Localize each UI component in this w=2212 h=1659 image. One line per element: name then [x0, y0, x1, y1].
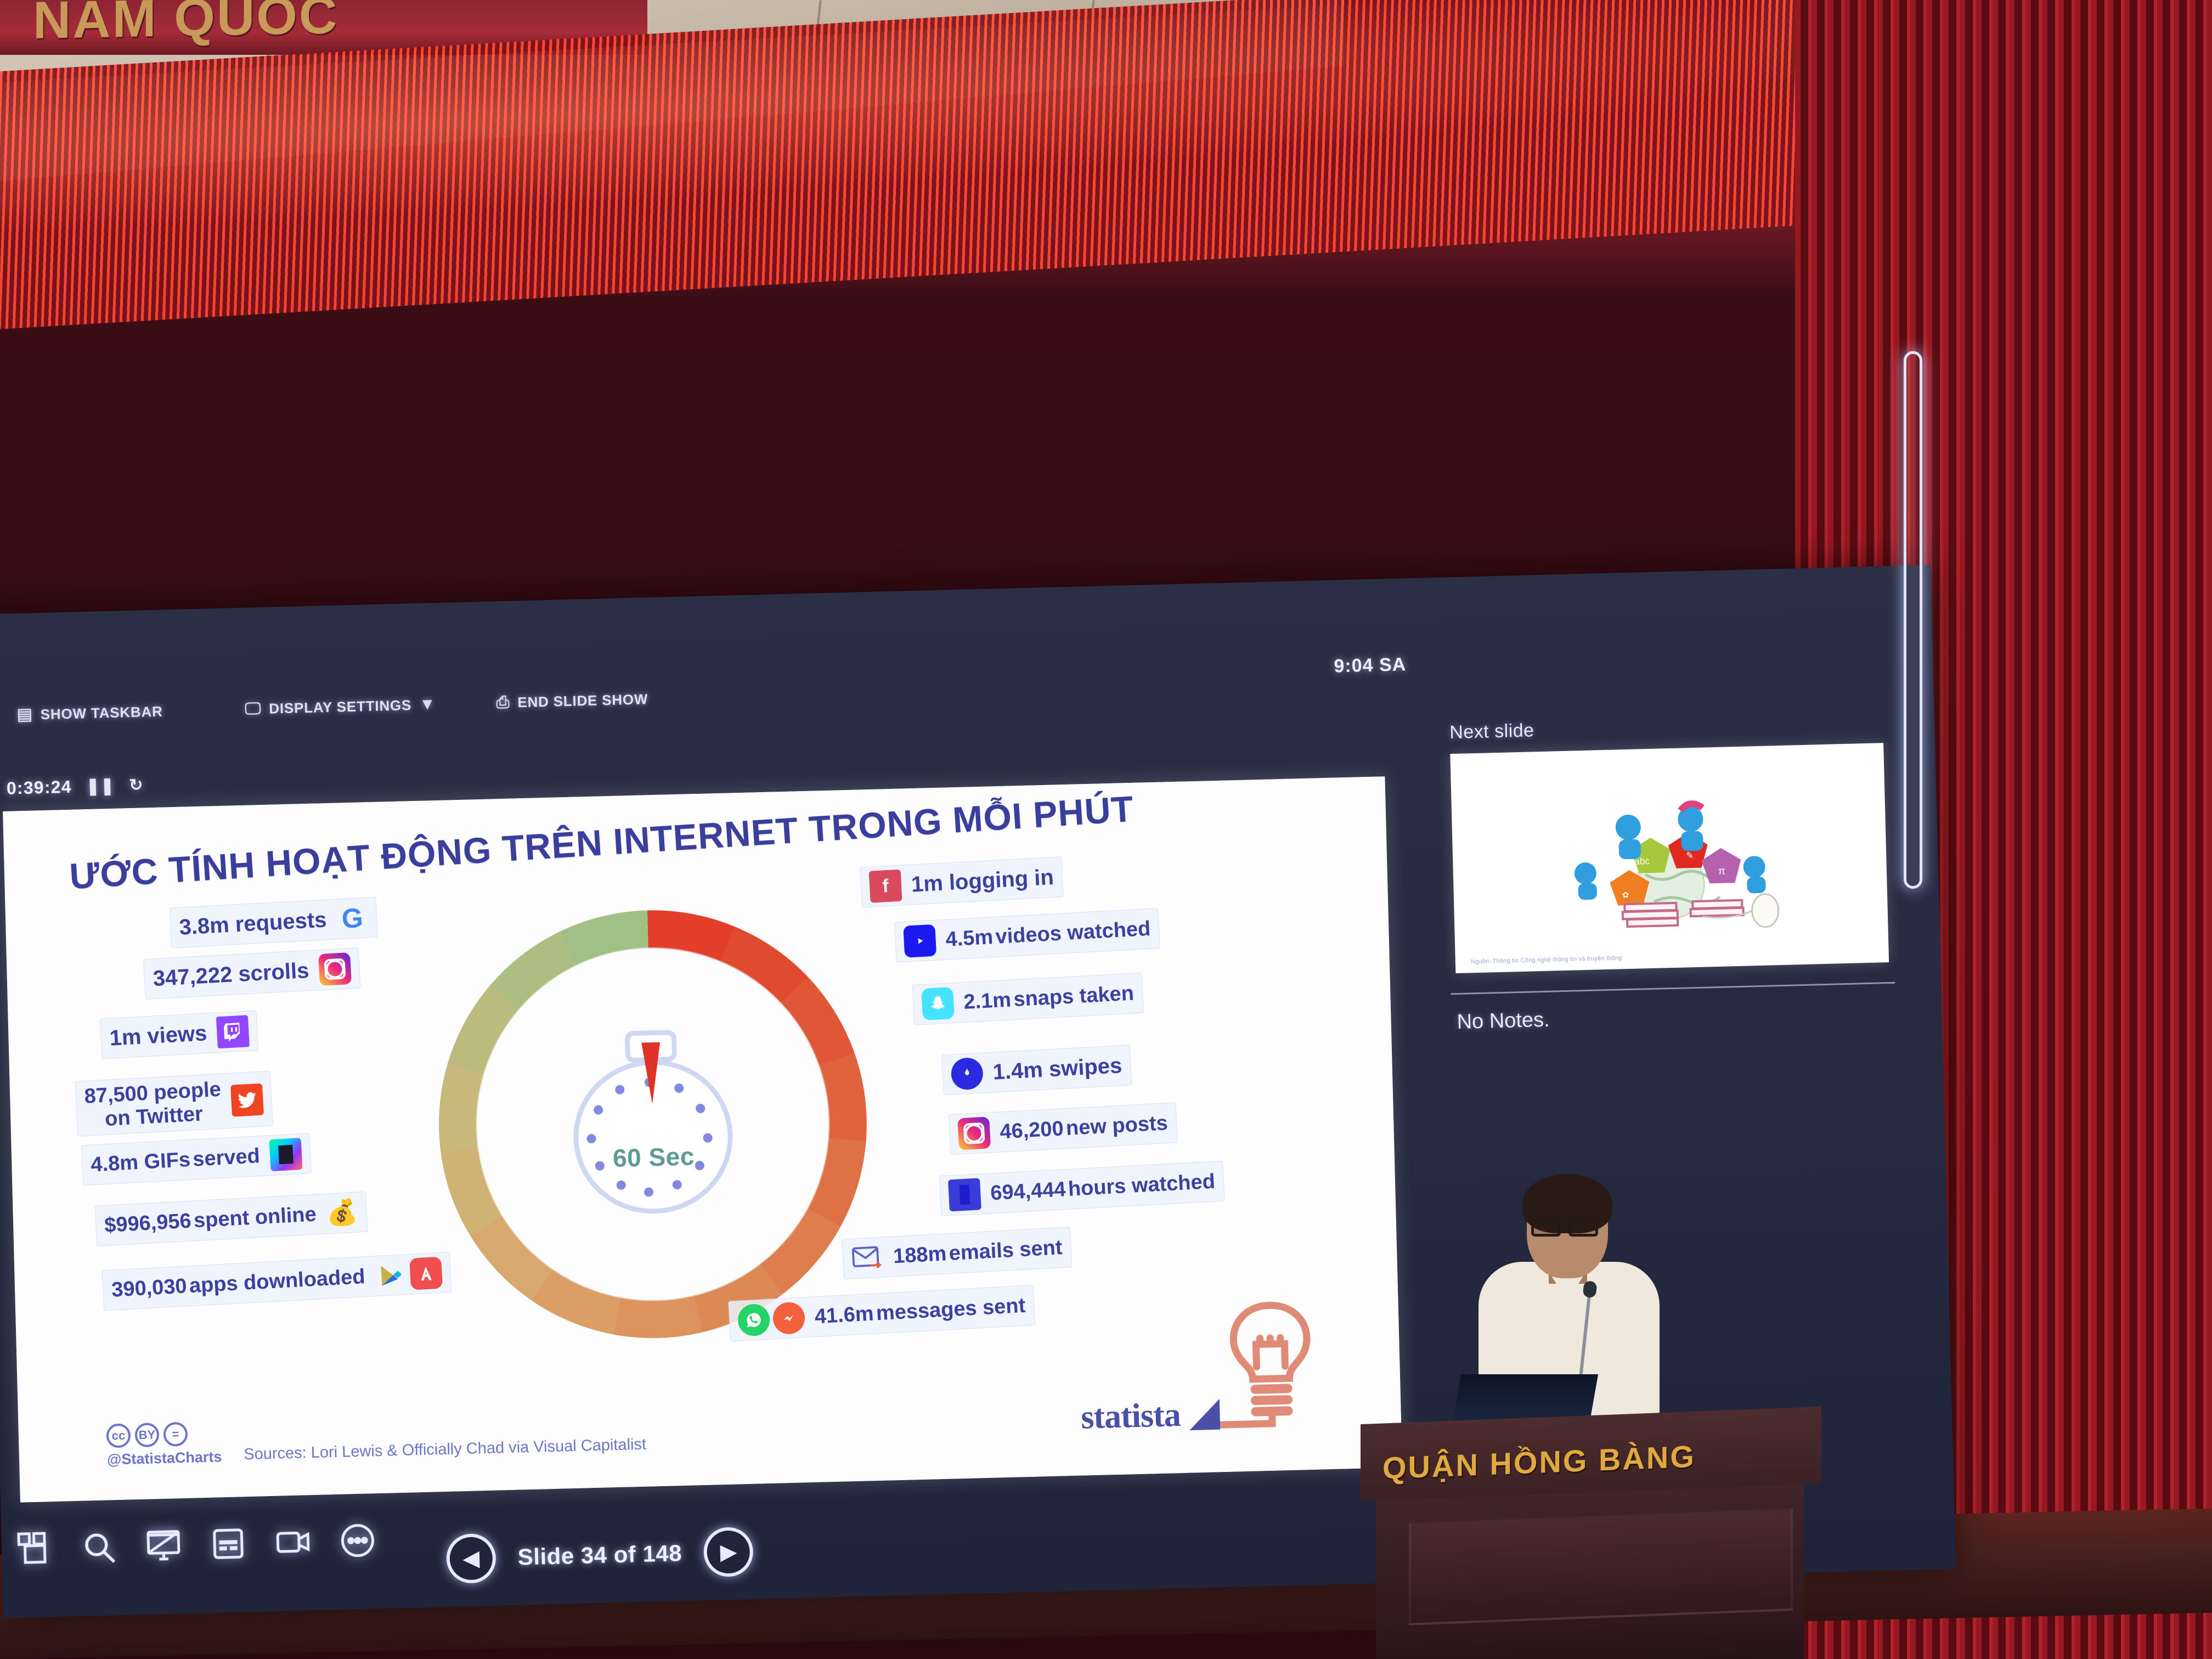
presentation-timer: 0:39:24 ❚❚ ↻: [7, 775, 144, 798]
netflix-icon: [948, 1178, 981, 1211]
presenter-glasses: [1531, 1220, 1604, 1237]
stat-left-5-value: $996,956: [104, 1209, 192, 1237]
slide-canvas: ƯỚC TÍNH HOẠT ĐỘNG TRÊN INTERNET TRONG M…: [3, 776, 1402, 1502]
stat-left-6-line2: apps downloaded: [189, 1265, 366, 1297]
stat-left-0: 3.8m requests G: [170, 897, 378, 949]
stat-right-5-line2: hours watched: [1068, 1170, 1216, 1200]
stat-left-2-label: 1m views: [109, 1021, 207, 1051]
podium-group: QUẬN HỒNG BÀNG: [1361, 1180, 1821, 1659]
youtube-icon: [903, 924, 936, 958]
stat-left-6: 390,030 apps downloaded: [101, 1252, 452, 1311]
email-icon: [851, 1241, 884, 1274]
stat-right-1-value: 4.5m: [945, 926, 994, 951]
instagram-icon: [318, 952, 352, 986]
slide-sources: Sources: Lori Lewis & Officially Chad vi…: [244, 1436, 647, 1464]
pen-annotate-icon[interactable]: [145, 1527, 182, 1564]
show-taskbar-button[interactable]: ▤ SHOW TASKBAR: [16, 703, 163, 724]
current-slide[interactable]: ƯỚC TÍNH HOẠT ĐỘNG TRÊN INTERNET TRONG M…: [3, 776, 1402, 1502]
whatsapp-icon: [737, 1304, 771, 1337]
stat-right-0-label: 1m logging in: [911, 865, 1054, 897]
stat-right-2-line2: snaps taken: [1013, 981, 1135, 1011]
presenter-person: [1479, 1180, 1660, 1437]
slide-counter: Slide 34 of 148: [517, 1540, 682, 1571]
statista-wordmark: statista: [1080, 1396, 1181, 1437]
stat-right-6: 188m emails sent: [842, 1227, 1072, 1279]
snapchat-icon: [921, 987, 955, 1020]
donut-chart: [433, 905, 872, 1343]
pause-icon[interactable]: ❚❚: [86, 776, 115, 796]
stat-right-6-value: 188m: [893, 1242, 947, 1268]
display-settings-label: DISPLAY SETTINGS: [269, 697, 412, 718]
end-slide-show-button[interactable]: ⎙ END SLIDE SHOW: [496, 691, 648, 712]
stat-right-1-line2: videos watched: [995, 917, 1151, 949]
timer-elapsed: 0:39:24: [7, 777, 72, 799]
next-slide-label: Next slide: [1449, 720, 1534, 743]
next-slide-artwork: abc ✎ π ✿: [1525, 764, 1814, 935]
chevron-down-icon: ▼: [419, 696, 436, 713]
app-store-icon: [409, 1257, 443, 1290]
banner-text: NĂM QUỐC: [33, 0, 338, 51]
money-bag-icon: 💰: [325, 1196, 359, 1229]
tinder-icon: [950, 1057, 984, 1091]
facebook-icon: f: [869, 870, 902, 903]
cc-by-icon: BY: [134, 1423, 159, 1447]
statista-logo: statista: [1080, 1395, 1220, 1437]
stat-right-4: 46,200 new posts: [949, 1102, 1178, 1155]
stat-right-1: 4.5m videos watched: [894, 908, 1160, 963]
google-icon: G: [336, 901, 369, 935]
display-settings-icon: 🖵: [245, 701, 261, 718]
instagram-icon: [957, 1116, 991, 1150]
whatsapp-messenger-icon: [737, 1301, 806, 1336]
end-show-icon: ⎙: [496, 695, 510, 712]
stat-left-6-value: 390,030: [111, 1274, 187, 1301]
stat-left-4: 4.8m GIFs served: [81, 1133, 312, 1186]
stat-left-5: $996,956 spent online 💰: [94, 1192, 368, 1246]
statista-mark-icon: [1189, 1399, 1220, 1430]
slide-credits: cc BY = @StatistaCharts Sources: Lori Le…: [106, 1410, 646, 1469]
stat-right-7-value: 41.6m: [814, 1302, 874, 1328]
stat-right-4-value: 46,200: [999, 1117, 1064, 1143]
messenger-icon: [772, 1301, 805, 1335]
magnifier-icon[interactable]: [80, 1528, 117, 1566]
stat-left-0-label: 3.8m requests: [178, 907, 327, 940]
statista-handle: @StatistaCharts: [107, 1448, 222, 1468]
stat-left-2: 1m views: [100, 1010, 258, 1059]
grid-view-icon[interactable]: [15, 1530, 53, 1567]
speaker-notes: No Notes.: [1457, 1008, 1550, 1034]
previous-slide-button[interactable]: ◀: [446, 1533, 496, 1584]
cc-icon: cc: [106, 1423, 131, 1448]
podium-body: [1376, 1484, 1804, 1659]
taskbar-icon: ▤: [16, 707, 33, 724]
google-play-icon: [374, 1259, 408, 1292]
cc-nd-icon: =: [163, 1422, 188, 1447]
stat-right-5-value: 694,444: [990, 1178, 1066, 1205]
stat-left-3: 87,500 people on Twitter: [75, 1071, 273, 1137]
vertical-light-bar: [1904, 351, 1922, 889]
creative-commons-badges: cc BY =: [106, 1421, 221, 1448]
stat-left-1-label: 347,222 scrolls: [153, 958, 310, 991]
end-slide-show-label: END SLIDE SHOW: [517, 691, 648, 711]
next-slide-button[interactable]: ▶: [703, 1527, 754, 1577]
stat-right-4-line2: new posts: [1065, 1111, 1169, 1140]
stat-left-4-value: 4.8m GIFs: [90, 1148, 191, 1177]
stat-left-4-line2: served: [192, 1144, 261, 1171]
stat-left-1: 347,222 scrolls: [143, 947, 360, 1000]
google-play-app-store-icon: [374, 1257, 443, 1292]
display-settings-button[interactable]: 🖵 DISPLAY SETTINGS ▼: [245, 696, 436, 718]
stat-right-0: f 1m logging in: [860, 856, 1063, 907]
podium: QUẬN HỒNG BÀNG: [1361, 1415, 1821, 1659]
podium-panel: [1409, 1506, 1793, 1626]
podium-sign-text: QUẬN HỒNG BÀNG: [1383, 1438, 1696, 1486]
svg-text:✿: ✿: [1622, 890, 1629, 900]
more-options-icon[interactable]: [339, 1522, 376, 1559]
stat-right-2-value: 2.1m: [963, 988, 1012, 1014]
svg-text:π: π: [1718, 866, 1726, 877]
stat-left-5-line2: spent online: [193, 1203, 317, 1232]
screenshot-root: NĂM QUỐC ▤ SHOW TASKBAR 🖵 DISPLAY SETTIN…: [0, 0, 2212, 1659]
subtitles-icon[interactable]: [210, 1525, 247, 1562]
stat-right-6-line2: emails sent: [949, 1236, 1063, 1265]
stat-right-2: 2.1m snaps taken: [912, 973, 1144, 1025]
next-slide-thumbnail[interactable]: abc ✎ π ✿: [1450, 743, 1889, 973]
show-taskbar-label: SHOW TASKBAR: [40, 703, 163, 723]
notes-divider: [1451, 982, 1895, 995]
stat-right-3-label: 1.4m swipes: [992, 1053, 1123, 1085]
stat-right-3: 1.4m swipes: [941, 1045, 1132, 1095]
twitter-icon: [230, 1083, 264, 1116]
giphy-icon: [269, 1138, 302, 1171]
presenter-tool-strip: [15, 1522, 376, 1567]
twitch-icon: [216, 1015, 250, 1048]
restart-timer-icon[interactable]: ↻: [129, 775, 144, 795]
stat-right-5: 694,444 hours watched: [939, 1161, 1225, 1216]
slide-navigation: ◀ Slide 34 of 148 ▶: [446, 1527, 754, 1584]
camera-icon[interactable]: [274, 1523, 312, 1561]
next-slide-caption: Nguồn: Thông tin Công nghệ thông tin và …: [1471, 949, 1878, 966]
stat-right-7-line2: messages sent: [876, 1294, 1026, 1325]
svg-text:✎: ✎: [1686, 850, 1694, 861]
lightbulb-icon: [1206, 1294, 1336, 1440]
system-clock: 9:04 SA: [1334, 654, 1407, 677]
